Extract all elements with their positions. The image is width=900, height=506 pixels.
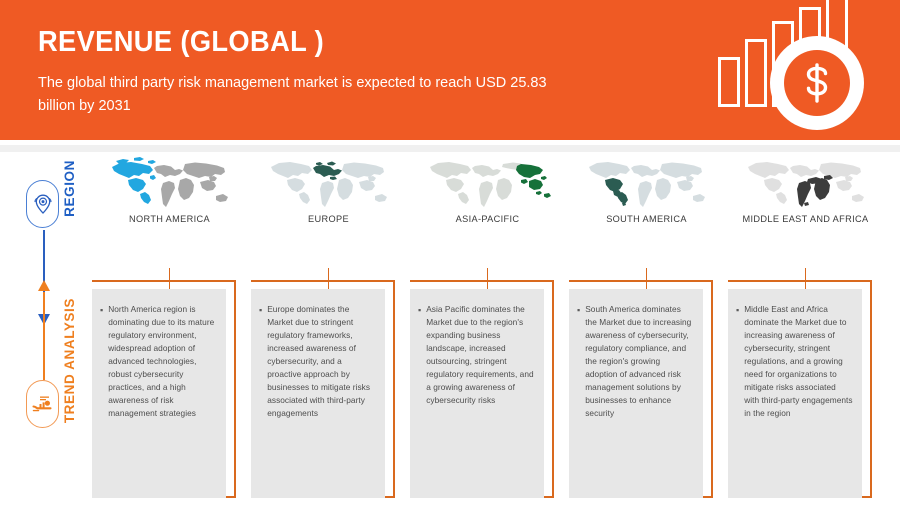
chart-bar-1 — [718, 57, 740, 107]
region-column-middle-east-africa: MIDDLE EAST AND AFRICA ▪ Middle East and… — [728, 152, 883, 506]
rail-label-trend-analysis: TREND ANALYSIS — [62, 298, 77, 423]
region-label: ASIA-PACIFIC — [410, 214, 565, 224]
page-title: REVENUE (GLOBAL ) — [38, 26, 324, 59]
bullet-icon: ▪ — [418, 303, 421, 407]
trend-card-asia-pacific: ▪ Asia Pacific dominates the Market due … — [410, 289, 544, 498]
trend-text: South America dominates the Market due t… — [585, 303, 694, 420]
bullet-icon: ▪ — [100, 303, 103, 420]
world-map-europe-highlight — [251, 154, 406, 216]
hand-holding-chart-icon — [32, 394, 54, 414]
region-label: NORTH AMERICA — [92, 214, 247, 224]
header-banner: REVENUE (GLOBAL ) The global third party… — [0, 0, 900, 140]
region-column-south-america: SOUTH AMERICA ▪ South America dominates … — [569, 152, 724, 506]
trend-text: Europe dominates the Market due to strin… — [267, 303, 376, 420]
bracket-right-edge — [711, 280, 713, 498]
world-map-south-america-highlight — [569, 154, 724, 216]
trend-card-north-america: ▪ North America region is dominating due… — [92, 289, 226, 498]
list-item: ▪ Middle East and Africa dominate the Ma… — [736, 303, 853, 420]
coin-circle — [770, 36, 864, 130]
bracket-right-edge — [870, 280, 872, 498]
location-pin-icon — [33, 193, 53, 215]
bracket-right-edge — [552, 280, 554, 498]
bar-chart-dollar-coin-icon — [710, 8, 870, 133]
bullet-icon: ▪ — [577, 303, 580, 420]
region-label: SOUTH AMERICA — [569, 214, 724, 224]
list-item: ▪ North America region is dominating due… — [100, 303, 217, 420]
header-subtitle: The global third party risk management m… — [38, 72, 558, 119]
region-column-north-america: NORTH AMERICA ▪ North America region is … — [92, 152, 247, 506]
region-columns: NORTH AMERICA ▪ North America region is … — [92, 152, 900, 506]
trend-text: Asia Pacific dominates the Market due to… — [426, 303, 535, 407]
chart-bar-2 — [745, 39, 767, 107]
trend-card-middle-east-africa: ▪ Middle East and Africa dominate the Ma… — [728, 289, 862, 498]
infographic-page: REVENUE (GLOBAL ) The global third party… — [0, 0, 900, 506]
world-map-north-america-highlight — [92, 154, 247, 216]
trend-card-europe: ▪ Europe dominates the Market due to str… — [251, 289, 385, 498]
header-divider-strip — [0, 145, 900, 152]
trend-text: North America region is dominating due t… — [108, 303, 217, 420]
trend-analysis-icon-badge — [26, 380, 59, 428]
region-label: EUROPE — [251, 214, 406, 224]
trend-text: Middle East and Africa dominate the Mark… — [744, 303, 853, 420]
arrow-stem — [43, 292, 45, 380]
list-item: ▪ South America dominates the Market due… — [577, 303, 694, 420]
list-item: ▪ Asia Pacific dominates the Market due … — [418, 303, 535, 407]
region-column-asia-pacific: ASIA-PACIFIC ▪ Asia Pacific dominates th… — [410, 152, 565, 506]
dollar-sign-icon — [784, 50, 850, 116]
region-icon-badge — [26, 180, 59, 228]
left-rail: REGION TREND ANALYSIS — [0, 152, 92, 506]
trend-up-arrow — [38, 280, 50, 380]
list-item: ▪ Europe dominates the Market due to str… — [259, 303, 376, 420]
world-map-middle-east-africa-highlight — [728, 154, 883, 216]
world-map-asia-pacific-highlight — [410, 154, 565, 216]
rail-label-region: REGION — [62, 160, 77, 217]
bracket-right-edge — [393, 280, 395, 498]
bullet-icon: ▪ — [259, 303, 262, 420]
region-label: MIDDLE EAST AND AFRICA — [728, 214, 883, 224]
region-column-europe: EUROPE ▪ Europe dominates the Market due… — [251, 152, 406, 506]
bracket-right-edge — [234, 280, 236, 498]
trend-card-south-america: ▪ South America dominates the Market due… — [569, 289, 703, 498]
arrow-head — [38, 280, 50, 291]
bullet-icon: ▪ — [736, 303, 739, 420]
